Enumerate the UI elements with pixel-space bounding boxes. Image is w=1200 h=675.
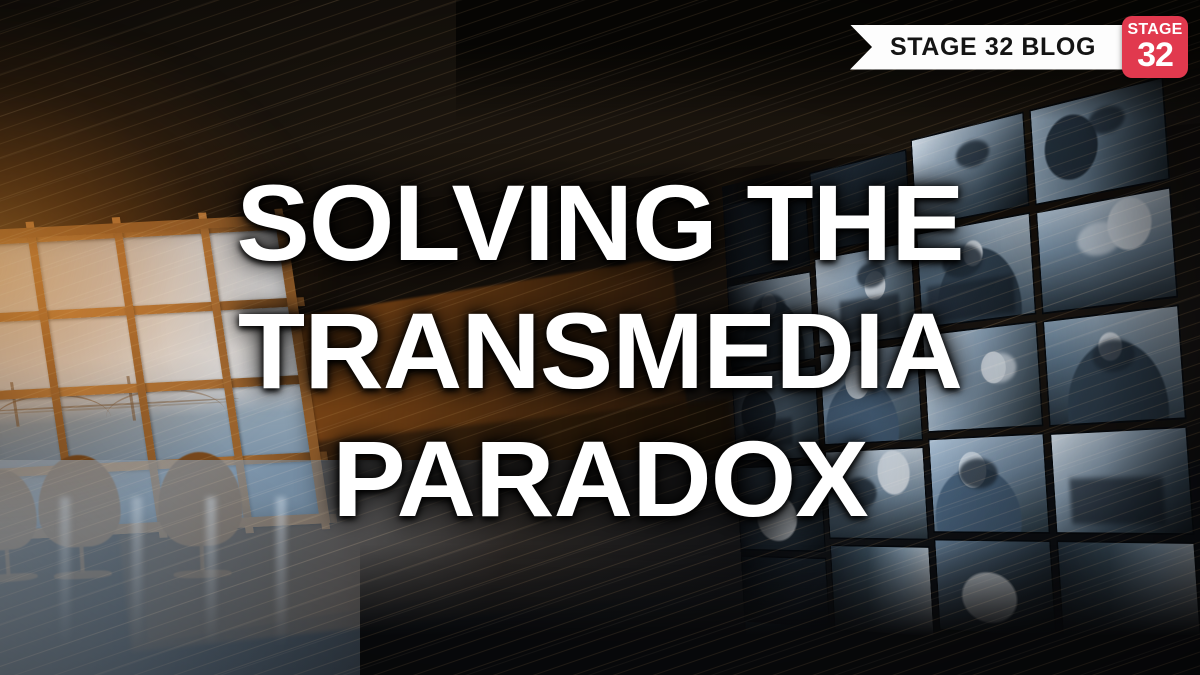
poster-canvas: SOLVING THE TRANSMEDIA PARADOX STAGE 32 … xyxy=(0,0,1200,675)
ribbon-label: STAGE 32 BLOG xyxy=(890,33,1096,62)
stage32-logo-badge[interactable]: STAGE 32 xyxy=(1122,16,1188,78)
blog-ribbon-banner[interactable]: STAGE 32 BLOG xyxy=(850,25,1126,70)
title-line-3: PARADOX xyxy=(0,426,1200,532)
title-line-1: SOLVING THE xyxy=(0,170,1200,276)
brand-lockup[interactable]: STAGE 32 BLOG STAGE 32 xyxy=(850,16,1188,78)
badge-number-text: 32 xyxy=(1137,39,1173,72)
poster-title: SOLVING THE TRANSMEDIA PARADOX xyxy=(0,170,1200,531)
title-line-2: TRANSMEDIA xyxy=(0,298,1200,404)
